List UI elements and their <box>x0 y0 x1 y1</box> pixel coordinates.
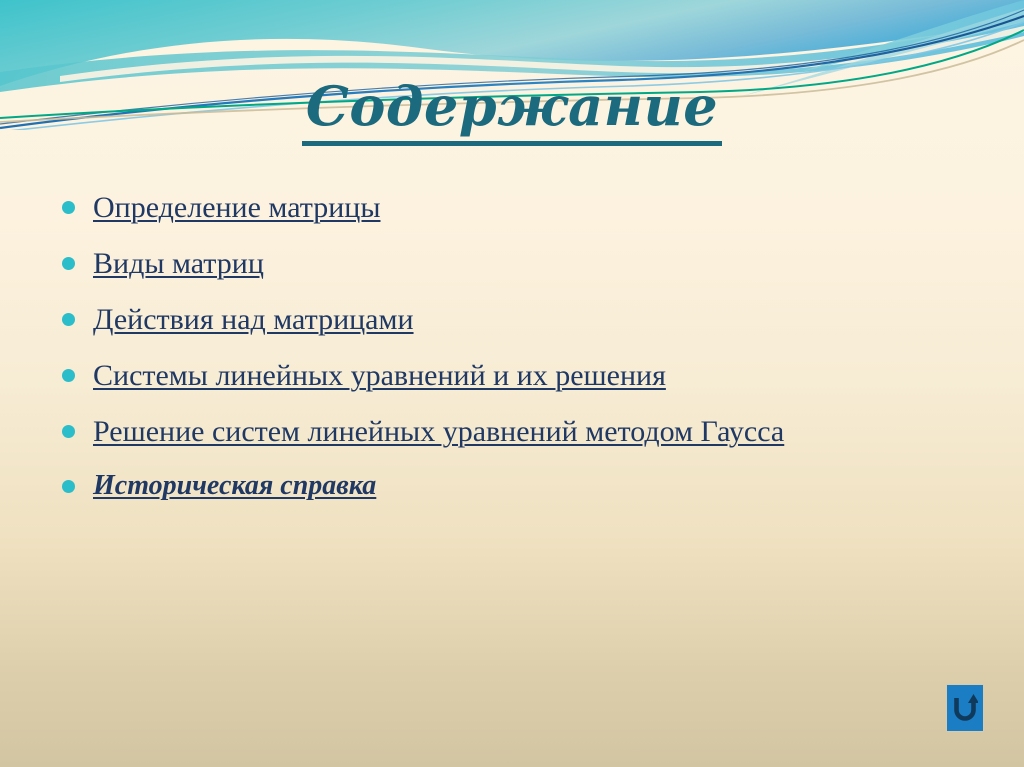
u-turn-arrow-icon <box>952 693 978 723</box>
toc-link-historical-note[interactable]: Историческая справка <box>93 467 942 504</box>
list-item[interactable]: Виды матриц <box>62 244 942 284</box>
bullet-icon <box>62 369 75 382</box>
toc-link-types-of-matrices[interactable]: Виды матриц <box>93 244 942 284</box>
bullet-icon <box>62 201 75 214</box>
slide-title-block: Содержание <box>0 78 1024 146</box>
bullet-icon <box>62 480 75 493</box>
bullet-icon <box>62 257 75 270</box>
toc-link-systems-of-linear-equations[interactable]: Системы линейных уравнений и их решения <box>93 356 942 396</box>
toc-link-gauss-method[interactable]: Решение систем линейных уравнений методо… <box>93 412 883 452</box>
list-item[interactable]: Действия над матрицами <box>62 300 942 340</box>
page-title: Содержание <box>302 78 722 146</box>
presentation-slide: Содержание Определение матрицы Виды матр… <box>0 0 1024 767</box>
u-turn-arrow-logo[interactable] <box>946 684 984 732</box>
list-item[interactable]: Историческая справка <box>62 467 942 504</box>
list-item[interactable]: Системы линейных уравнений и их решения <box>62 356 942 396</box>
toc-link-operations-on-matrices[interactable]: Действия над матрицами <box>93 300 942 340</box>
bullet-icon <box>62 425 75 438</box>
list-item[interactable]: Определение матрицы <box>62 188 942 228</box>
table-of-contents-list: Определение матрицы Виды матриц Действия… <box>62 188 942 521</box>
list-item[interactable]: Решение систем линейных уравнений методо… <box>62 412 942 452</box>
toc-link-definition-of-matrix[interactable]: Определение матрицы <box>93 188 942 228</box>
bullet-icon <box>62 313 75 326</box>
